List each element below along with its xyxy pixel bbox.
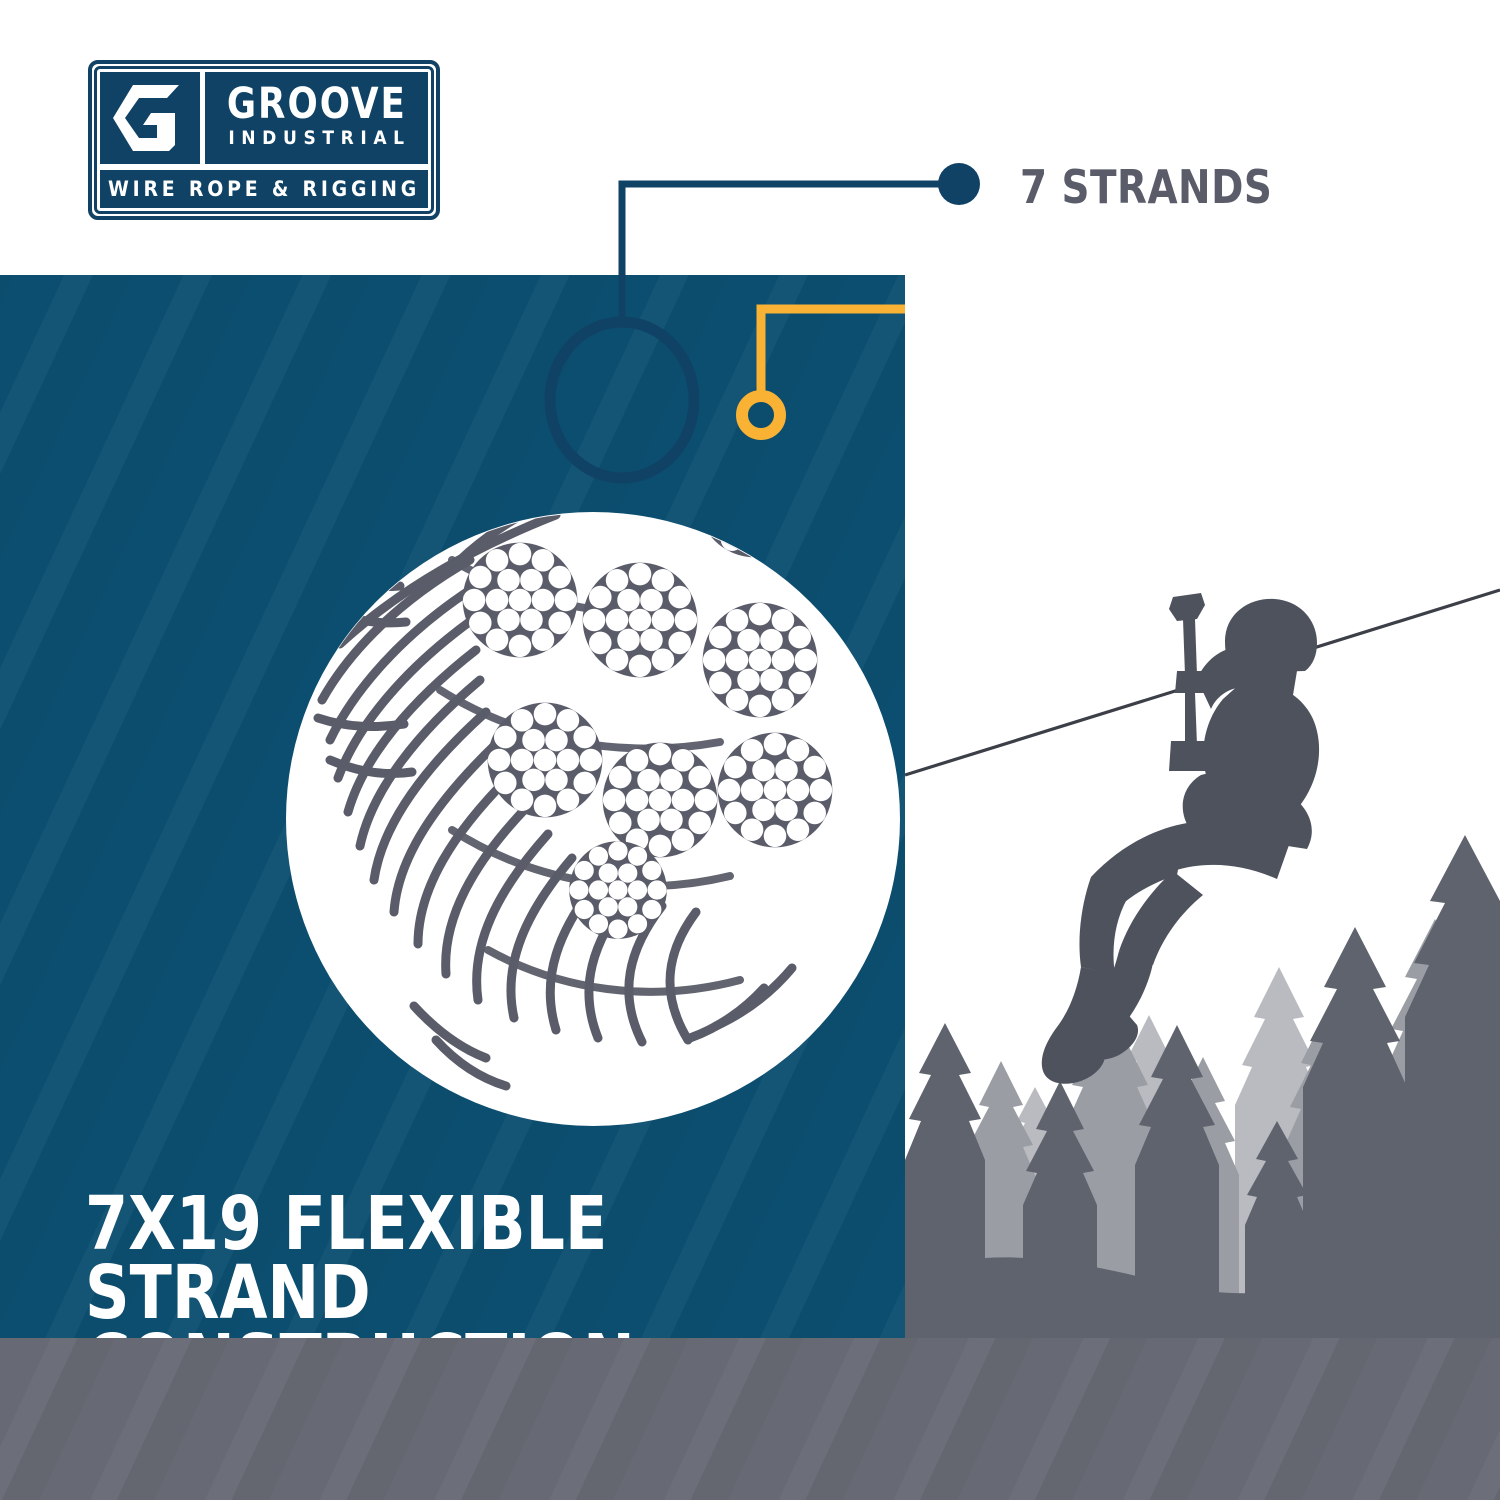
logo-wordmark: GROOVE INDUSTRIAL [205,72,428,164]
callout-7-strands[interactable]: 7 STRANDS [940,160,1288,214]
bottom-ground-strip [0,1338,1500,1500]
illustration-circle-backdrop [286,512,900,1126]
infographic-canvas: GROOVE INDUSTRIAL WIRE ROPE & RIGGING 7X… [0,0,1500,1500]
logo-tagline-bar: WIRE ROPE & RIGGING [100,170,428,208]
headline-line-1: 7X19 FLEXIBLE [85,1190,829,1259]
headline-line-2: STRAND CONSTRUCTION [85,1259,829,1338]
logo-tagline: WIRE ROPE & RIGGING [108,177,420,201]
navy-content-panel: 7X19 FLEXIBLE STRAND CONSTRUCTION Our ai… [0,275,905,1338]
logo-top-row: GROOVE INDUSTRIAL [100,72,428,164]
logo-brand-subtitle: INDUSTRIAL [222,128,410,149]
page-headline: 7X19 FLEXIBLE STRAND CONSTRUCTION [85,1190,829,1338]
logo-brand-name: GROOVE [226,85,406,125]
zipline-scene [905,275,1500,1338]
callout-label-0: 7 STRANDS [1020,160,1272,214]
brand-logo[interactable]: GROOVE INDUSTRIAL WIRE ROPE & RIGGING [88,60,440,220]
groove-g-monogram-icon [100,72,200,164]
